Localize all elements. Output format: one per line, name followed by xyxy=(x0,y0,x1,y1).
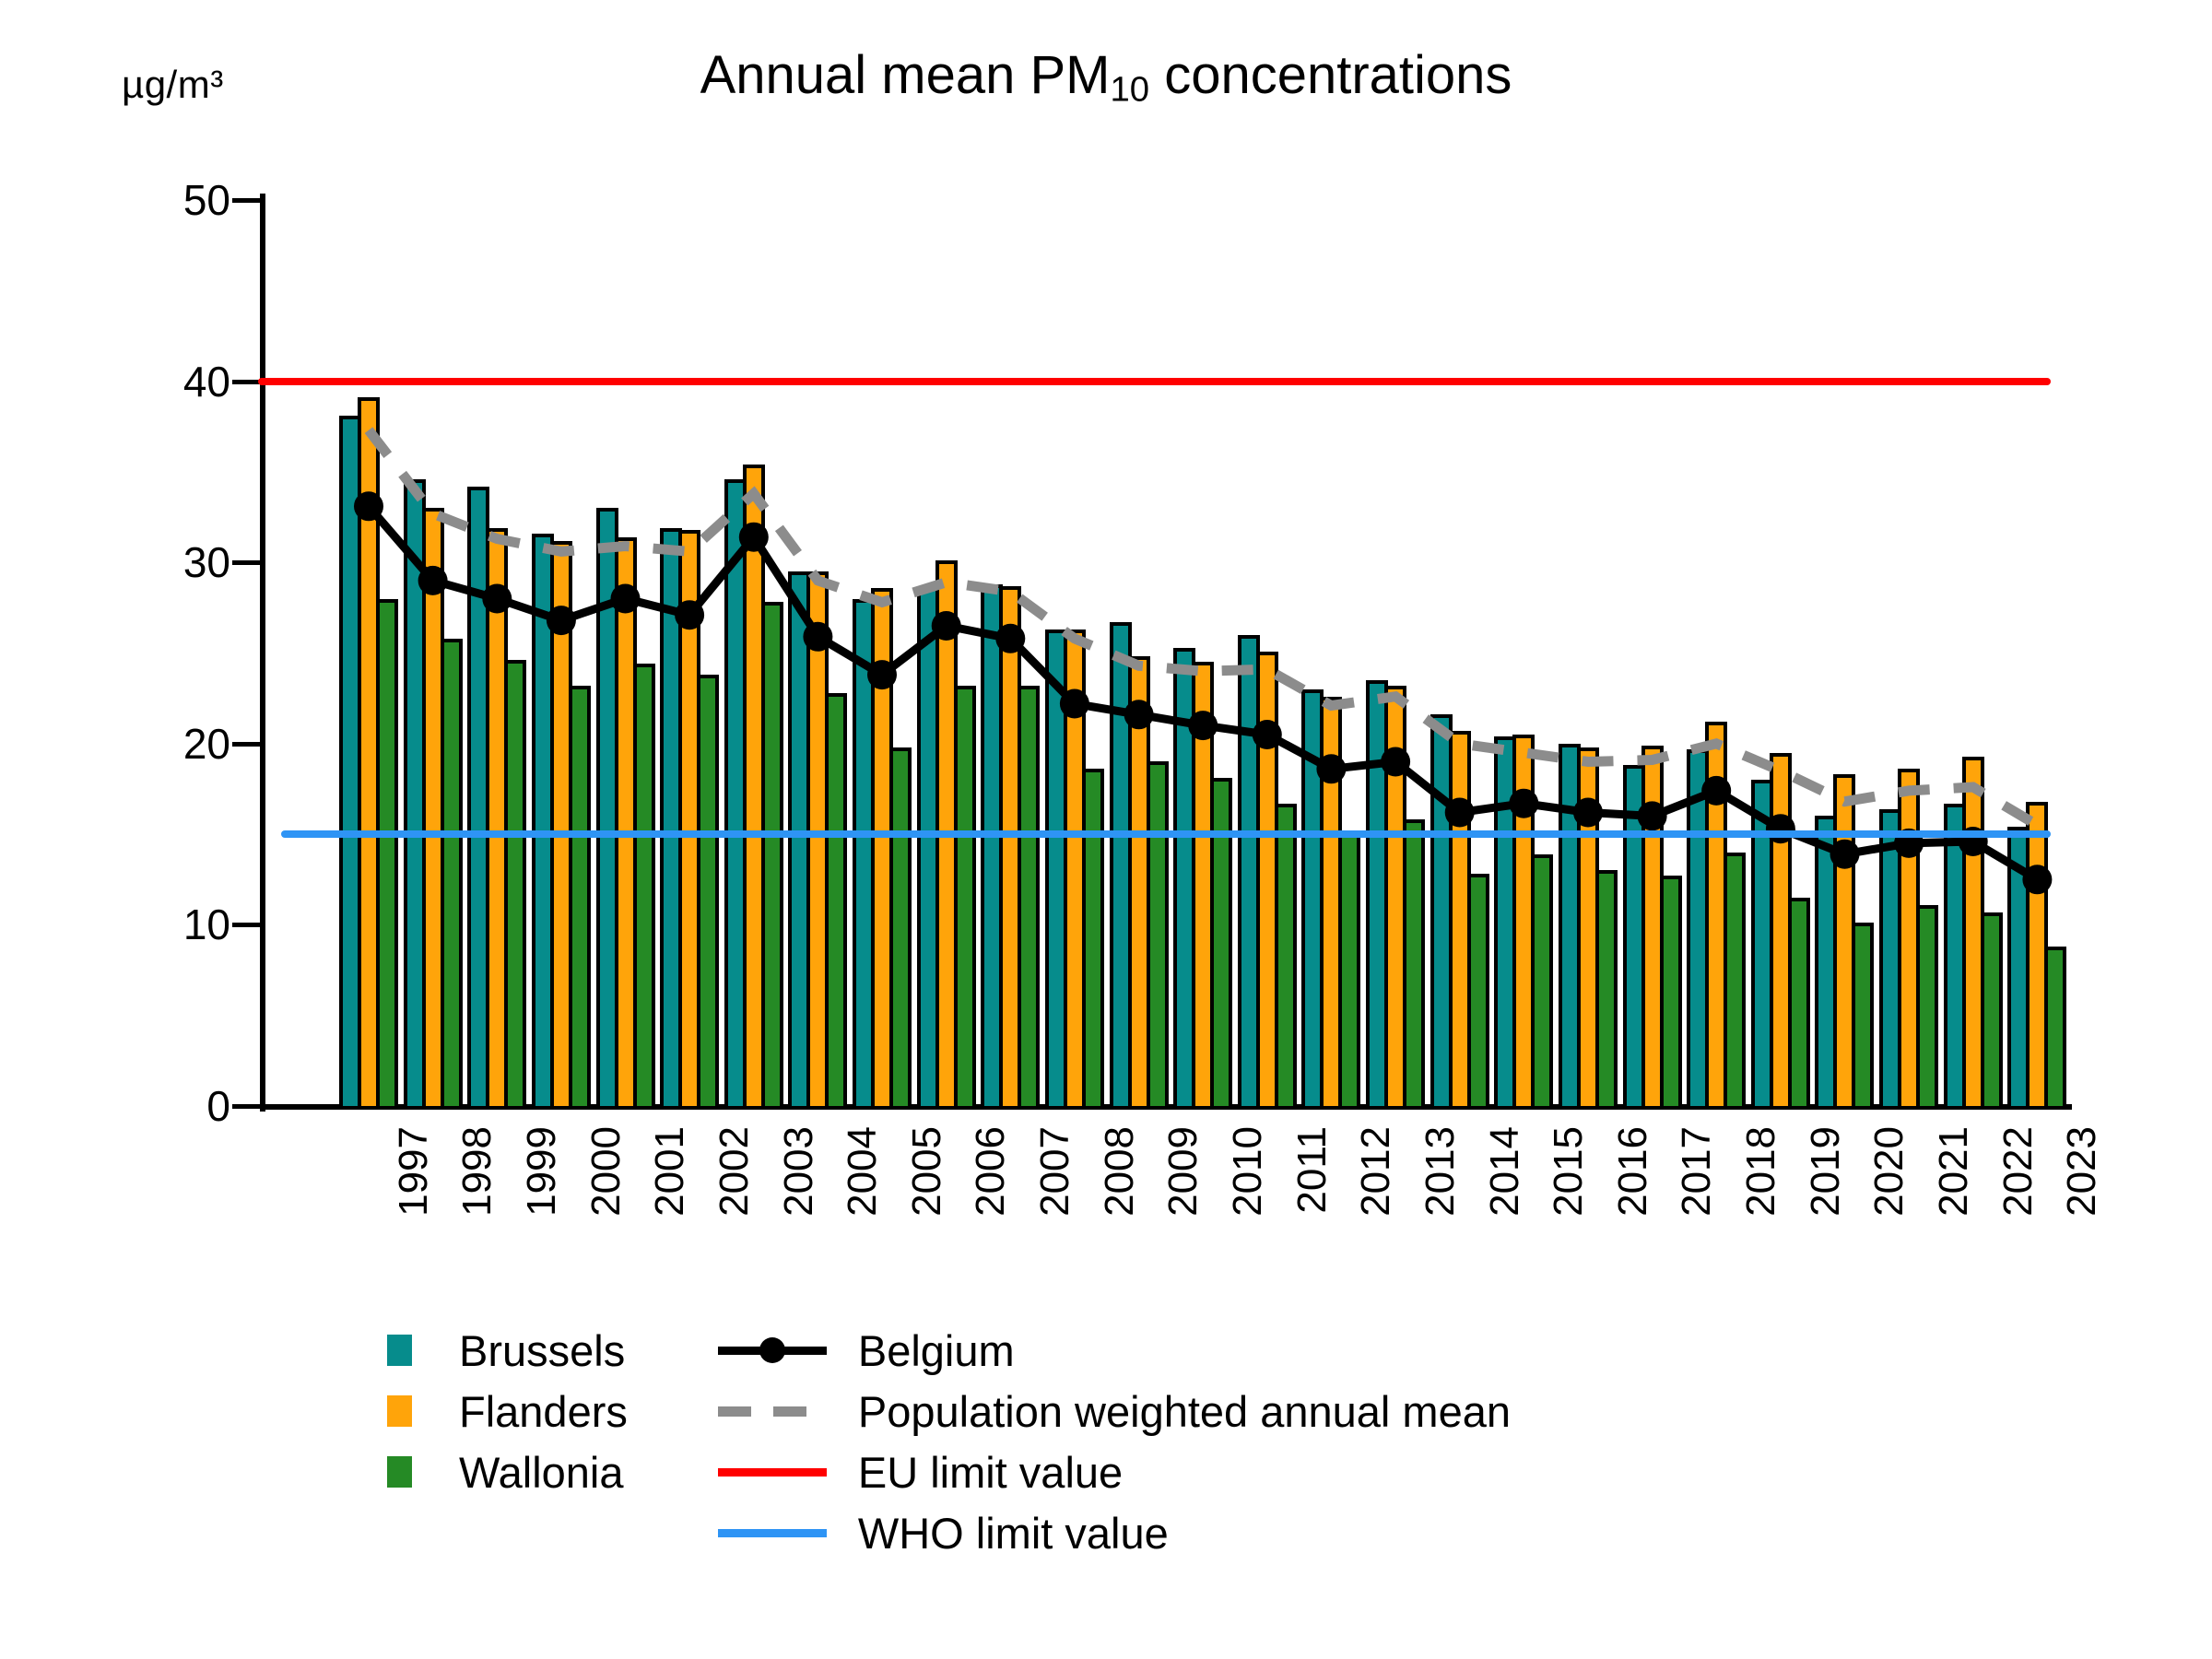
y-axis-tick xyxy=(232,560,262,565)
legend-column-lines: BelgiumPopulation weighted annual meanEU… xyxy=(703,1320,1511,1563)
x-axis-tick-label: 2000 xyxy=(583,1126,629,1217)
x-axis-tick-label: 2021 xyxy=(1931,1126,1977,1217)
legend-swatch-icon xyxy=(387,1456,412,1488)
chart-canvas: µg/m³ Annual mean PM10 concentrations 01… xyxy=(0,0,2212,1659)
x-axis-tick-label: 2023 xyxy=(2059,1126,2105,1217)
bar-brussels-2009 xyxy=(1110,622,1132,1106)
bar-brussels-2006 xyxy=(917,586,939,1106)
legend-label: Brussels xyxy=(459,1325,625,1376)
chart-title-tail: concentrations xyxy=(1149,45,1512,105)
legend-line-icon xyxy=(718,1529,827,1537)
legend-column-regions: BrusselsFlandersWallonia xyxy=(387,1320,628,1502)
x-axis-tick-label: 2002 xyxy=(712,1126,758,1217)
bar-brussels-2023 xyxy=(2007,827,2030,1106)
x-axis-tick-label: 2018 xyxy=(1738,1126,1784,1217)
legend-label: Belgium xyxy=(858,1325,1015,1376)
bar-brussels-2001 xyxy=(596,508,618,1106)
legend-item-wallonia[interactable]: Wallonia xyxy=(387,1441,628,1502)
x-axis-tick-label: 2008 xyxy=(1097,1126,1143,1217)
bar-brussels-1997 xyxy=(339,416,361,1106)
chart-title-subscript: 10 xyxy=(1111,69,1150,109)
legend-line-marker-icon xyxy=(718,1347,827,1355)
x-axis-tick-label: 2013 xyxy=(1418,1126,1464,1217)
x-axis-tick-label: 2011 xyxy=(1289,1126,1335,1214)
bar-brussels-2018 xyxy=(1687,749,1709,1106)
y-axis-tick-label: 30 xyxy=(46,537,230,587)
bar-brussels-2020 xyxy=(1815,816,1837,1106)
bar-brussels-2010 xyxy=(1173,648,1195,1106)
x-axis-tick-label: 2004 xyxy=(840,1126,886,1217)
y-axis-tick-label: 0 xyxy=(46,1081,230,1131)
x-axis-tick-label: 2003 xyxy=(776,1126,822,1217)
x-axis-tick-label: 2022 xyxy=(1995,1126,2041,1217)
x-axis-tick-label: 2019 xyxy=(1803,1126,1849,1217)
bar-brussels-2017 xyxy=(1623,765,1645,1106)
eu-limit-line xyxy=(258,378,2051,385)
bar-brussels-2021 xyxy=(1879,809,1901,1106)
y-axis-tick-label: 10 xyxy=(46,900,230,949)
y-axis-tick xyxy=(232,742,262,747)
bar-brussels-2013 xyxy=(1366,680,1388,1106)
chart-title-main: Annual mean PM xyxy=(700,45,1111,105)
x-axis-tick-label: 2020 xyxy=(1866,1126,1912,1217)
legend-item-belgium[interactable]: Belgium xyxy=(703,1320,1511,1381)
bar-brussels-2022 xyxy=(1944,804,1966,1106)
legend-dashed-line-icon xyxy=(718,1406,827,1417)
y-axis-tick xyxy=(232,198,262,203)
who-limit-line xyxy=(281,830,2051,838)
x-axis-tick-label: 2005 xyxy=(904,1126,950,1217)
chart-title: Annual mean PM10 concentrations xyxy=(0,44,2212,110)
plot-area xyxy=(336,200,2069,1106)
bar-brussels-2003 xyxy=(724,479,747,1106)
legend-item-population-weighted-annual-mean[interactable]: Population weighted annual mean xyxy=(703,1381,1511,1441)
bar-brussels-2014 xyxy=(1430,714,1453,1106)
legend-label: Population weighted annual mean xyxy=(858,1386,1511,1437)
legend-swatch-icon xyxy=(387,1395,412,1427)
legend-item-eu-limit-value[interactable]: EU limit value xyxy=(703,1441,1511,1502)
bar-brussels-2016 xyxy=(1559,744,1581,1106)
legend-item-who-limit-value[interactable]: WHO limit value xyxy=(703,1502,1511,1563)
y-axis-line xyxy=(260,194,265,1112)
bar-brussels-2005 xyxy=(853,599,875,1106)
y-axis-tick-label: 20 xyxy=(46,719,230,769)
x-axis-tick-label: 2006 xyxy=(968,1126,1014,1217)
y-axis-tick-label: 40 xyxy=(46,357,230,406)
x-axis-tick-label: 1998 xyxy=(454,1126,500,1217)
y-axis-tick xyxy=(232,1104,262,1109)
bar-brussels-2015 xyxy=(1494,736,1516,1106)
bar-brussels-1998 xyxy=(404,479,426,1106)
x-axis-tick-label: 2016 xyxy=(1610,1126,1656,1217)
bar-brussels-2019 xyxy=(1751,780,1773,1106)
bar-brussels-2002 xyxy=(660,528,682,1106)
legend-label: Flanders xyxy=(459,1386,628,1437)
bar-brussels-2011 xyxy=(1238,635,1260,1106)
legend-line-icon xyxy=(718,1468,827,1477)
legend-label: Wallonia xyxy=(459,1447,624,1498)
x-axis-tick-label: 1999 xyxy=(519,1126,565,1217)
x-axis-tick-label: 2001 xyxy=(647,1126,693,1217)
bar-brussels-1999 xyxy=(467,487,489,1106)
x-axis-tick-label: 2015 xyxy=(1546,1126,1592,1217)
legend-label: EU limit value xyxy=(858,1447,1123,1498)
bar-brussels-2012 xyxy=(1301,689,1324,1106)
bar-brussels-2007 xyxy=(981,584,1003,1106)
legend-label: WHO limit value xyxy=(858,1508,1169,1559)
x-axis-tick-label: 2014 xyxy=(1482,1126,1528,1217)
bar-brussels-2000 xyxy=(532,534,554,1106)
x-axis-tick-label: 2012 xyxy=(1353,1126,1399,1217)
y-axis-tick-label: 50 xyxy=(46,175,230,225)
x-axis-tick-label: 2010 xyxy=(1225,1126,1271,1217)
x-axis-tick-label: 1997 xyxy=(391,1126,437,1217)
legend-item-flanders[interactable]: Flanders xyxy=(387,1381,628,1441)
x-axis-tick-label: 2007 xyxy=(1032,1126,1078,1217)
bar-brussels-2004 xyxy=(788,571,810,1106)
y-axis-tick xyxy=(232,923,262,927)
x-axis-tick-label: 2017 xyxy=(1674,1126,1720,1217)
bar-brussels-2008 xyxy=(1045,629,1067,1106)
legend-item-brussels[interactable]: Brussels xyxy=(387,1320,628,1381)
legend-marker-dot-icon xyxy=(759,1337,785,1363)
legend-swatch-icon xyxy=(387,1335,412,1366)
chart-legend: BrusselsFlandersWallonia BelgiumPopulati… xyxy=(387,1320,1511,1563)
x-axis-tick-label: 2009 xyxy=(1160,1126,1206,1217)
